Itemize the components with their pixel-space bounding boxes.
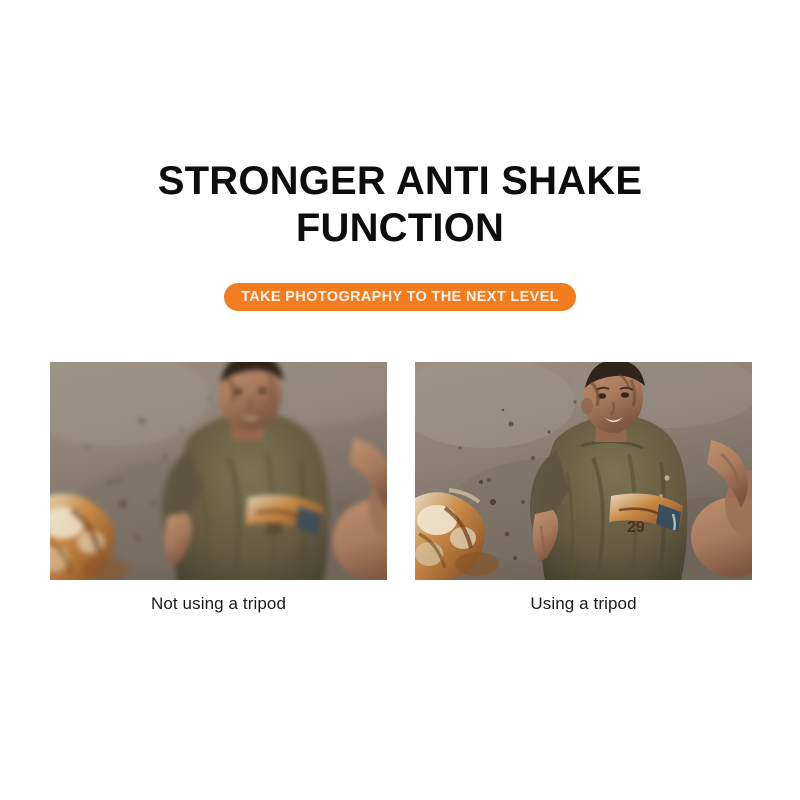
- comparison-pane-right: 29 Using a tripod: [415, 362, 752, 614]
- badge-row: TAKE PHOTOGRAPHY TO THE NEXT LEVEL: [0, 283, 800, 311]
- page-title-line-1: STRONGER ANTI SHAKE: [0, 158, 800, 205]
- photo-illustration-sharp: 29: [415, 362, 752, 580]
- tagline-badge: TAKE PHOTOGRAPHY TO THE NEXT LEVEL: [224, 283, 576, 311]
- caption-left: Not using a tripod: [50, 594, 387, 614]
- promo-page: STRONGER ANTI SHAKE FUNCTION TAKE PHOTOG…: [0, 0, 800, 800]
- photo-not-using-tripod: 29: [50, 362, 387, 580]
- comparison-pane-left: 29 Not using a tripod: [50, 362, 387, 614]
- page-title: STRONGER ANTI SHAKE FUNCTION: [0, 158, 800, 252]
- comparison-section: 29 Not using a tripod: [50, 362, 752, 614]
- page-title-line-2: FUNCTION: [0, 205, 800, 252]
- photo-illustration-blurred: 29: [50, 362, 387, 580]
- svg-text:29: 29: [627, 519, 645, 536]
- photo-using-tripod: 29: [415, 362, 752, 580]
- caption-right: Using a tripod: [415, 594, 752, 614]
- svg-text:29: 29: [265, 521, 283, 538]
